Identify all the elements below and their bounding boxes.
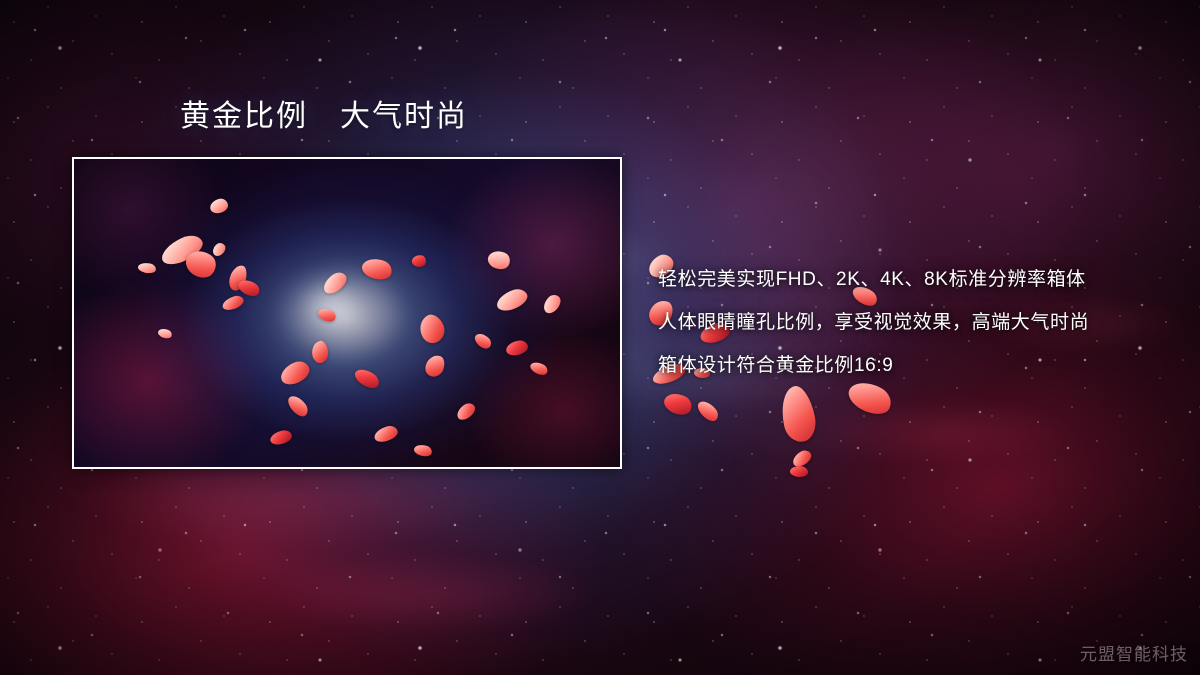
panel-nebula-core [74,159,620,467]
petal [790,448,814,469]
body-line-1: 轻松完美实现FHD、2K、4K、8K标准分辨率箱体 [658,258,1178,301]
body-copy: 轻松完美实现FHD、2K、4K、8K标准分辨率箱体 人体眼睛瞳孔比例，享受视觉效… [658,258,1178,387]
petal [777,383,820,444]
company-watermark: 元盟智能科技 [1080,640,1188,665]
petal [789,465,808,478]
body-line-2: 人体眼睛瞳孔比例，享受视觉效果，高端大气时尚 [658,301,1178,344]
petal [695,397,721,424]
photo-frame-content [74,159,620,467]
presentation-slide: 黄金比例 大气时尚 [0,0,1200,675]
petals-photo-frame [72,157,622,469]
body-line-3: 箱体设计符合黄金比例16:9 [658,344,1178,387]
slide-title: 黄金比例 大气时尚 [180,100,468,135]
petal [661,389,695,419]
